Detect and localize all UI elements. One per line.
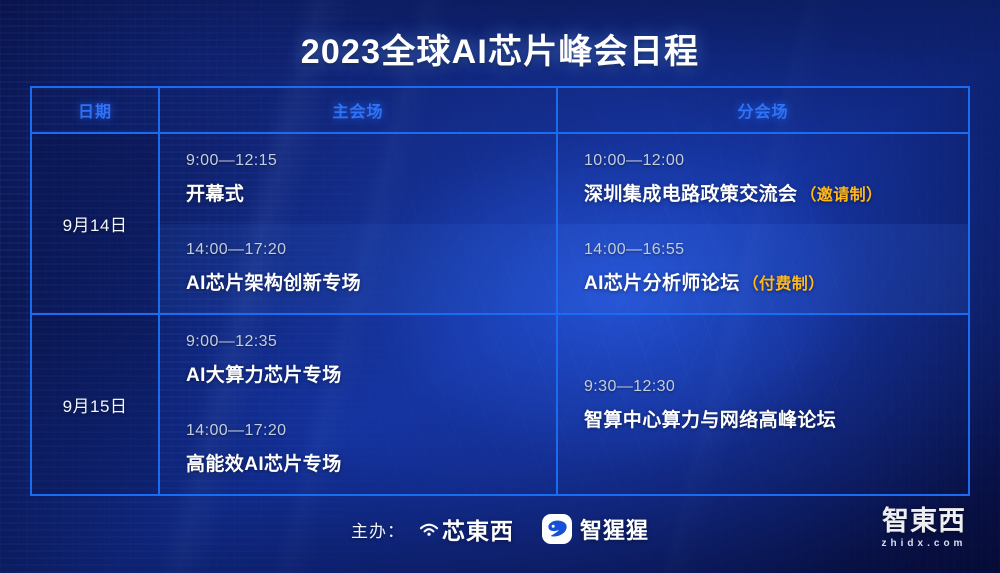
main-venue-cell: 9:00—12:15 开幕式 14:00—17:20 AI芯片架构创新专场 [160, 134, 558, 313]
ape-head-icon [542, 514, 572, 544]
session-title-text: 深圳集成电路政策交流会 [584, 184, 797, 205]
session-title: 开幕式 [186, 179, 556, 206]
session-time: 9:30—12:30 [584, 378, 968, 396]
table-body: 9月14日 9:00—12:15 开幕式 14:00—17:20 AI芯片架构创… [32, 134, 968, 494]
table-row: 9月15日 9:00—12:35 AI大算力芯片专场 14:00—17:20 高… [32, 315, 968, 494]
session-time: 9:00—12:35 [186, 333, 556, 351]
xindongxi-logo[interactable]: 芯東西 [419, 512, 514, 546]
main-venue-cell: 9:00—12:35 AI大算力芯片专场 14:00—17:20 高能效AI芯片… [160, 315, 558, 494]
session-tag: （付费制） [743, 276, 825, 293]
organizer-label: 主办： [351, 517, 405, 542]
sub-venue-cell: 10:00—12:00 深圳集成电路政策交流会（邀请制） 14:00—16:55… [558, 134, 968, 313]
session-slot[interactable]: 9:00—12:15 开幕式 [160, 134, 556, 224]
session-time: 10:00—12:00 [584, 152, 968, 170]
footer-organizers: 主办： 芯東西 智猩猩 [0, 512, 1000, 546]
session-slot[interactable]: 10:00—12:00 深圳集成电路政策交流会（邀请制） [558, 134, 968, 224]
wifi-signal-icon [419, 522, 439, 536]
schedule-table: 日期 主会场 分会场 9月14日 9:00—12:15 开幕式 14:00—17… [30, 86, 970, 496]
column-header-date: 日期 [32, 88, 160, 132]
session-slot[interactable]: 14:00—17:20 高能效AI芯片专场 [160, 405, 556, 495]
zhixingxing-logo-text: 智猩猩 [580, 513, 649, 545]
column-header-sub-venue: 分会场 [558, 88, 968, 132]
session-tag: （邀请制） [800, 187, 882, 204]
watermark-logo-text: 智東西 [882, 508, 966, 535]
poster-canvas: 2023全球AI芯片峰会日程 日期 主会场 分会场 9月14日 9:00—12:… [0, 0, 1000, 573]
watermark-url: zhidx.com [882, 538, 967, 549]
date-cell: 9月15日 [32, 315, 160, 494]
column-header-main-venue: 主会场 [160, 88, 558, 132]
page-title: 2023全球AI芯片峰会日程 [0, 24, 1000, 73]
session-time: 14:00—17:20 [186, 241, 556, 259]
session-slot[interactable]: 9:00—12:35 AI大算力芯片专场 [160, 315, 556, 405]
session-title: AI大算力芯片专场 [186, 360, 556, 387]
table-row: 9月14日 9:00—12:15 开幕式 14:00—17:20 AI芯片架构创… [32, 134, 968, 315]
zhixingxing-logo[interactable]: 智猩猩 [542, 513, 649, 545]
session-title-text: AI芯片分析师论坛 [584, 273, 740, 294]
session-time: 14:00—16:55 [584, 241, 968, 259]
session-slot[interactable]: 9:30—12:30 智算中心算力与网络高峰论坛 [558, 378, 968, 432]
sub-venue-cell: 9:30—12:30 智算中心算力与网络高峰论坛 [558, 315, 968, 494]
session-time: 9:00—12:15 [186, 152, 556, 170]
session-slot[interactable]: 14:00—16:55 AI芯片分析师论坛（付费制） [558, 224, 968, 314]
session-title: 高能效AI芯片专场 [186, 449, 556, 476]
ape-head-glyph [545, 519, 569, 539]
table-header-row: 日期 主会场 分会场 [32, 88, 968, 134]
session-title: AI芯片分析师论坛（付费制） [584, 268, 968, 295]
xindongxi-logo-text: 芯東西 [442, 512, 514, 546]
session-time: 14:00—17:20 [186, 422, 556, 440]
session-slot[interactable]: 14:00—17:20 AI芯片架构创新专场 [160, 224, 556, 314]
session-title: AI芯片架构创新专场 [186, 268, 556, 295]
zhidx-watermark: 智東西 zhidx.com [864, 508, 984, 549]
session-title: 智算中心算力与网络高峰论坛 [584, 405, 968, 432]
session-title: 深圳集成电路政策交流会（邀请制） [584, 179, 968, 206]
date-cell: 9月14日 [32, 134, 160, 313]
